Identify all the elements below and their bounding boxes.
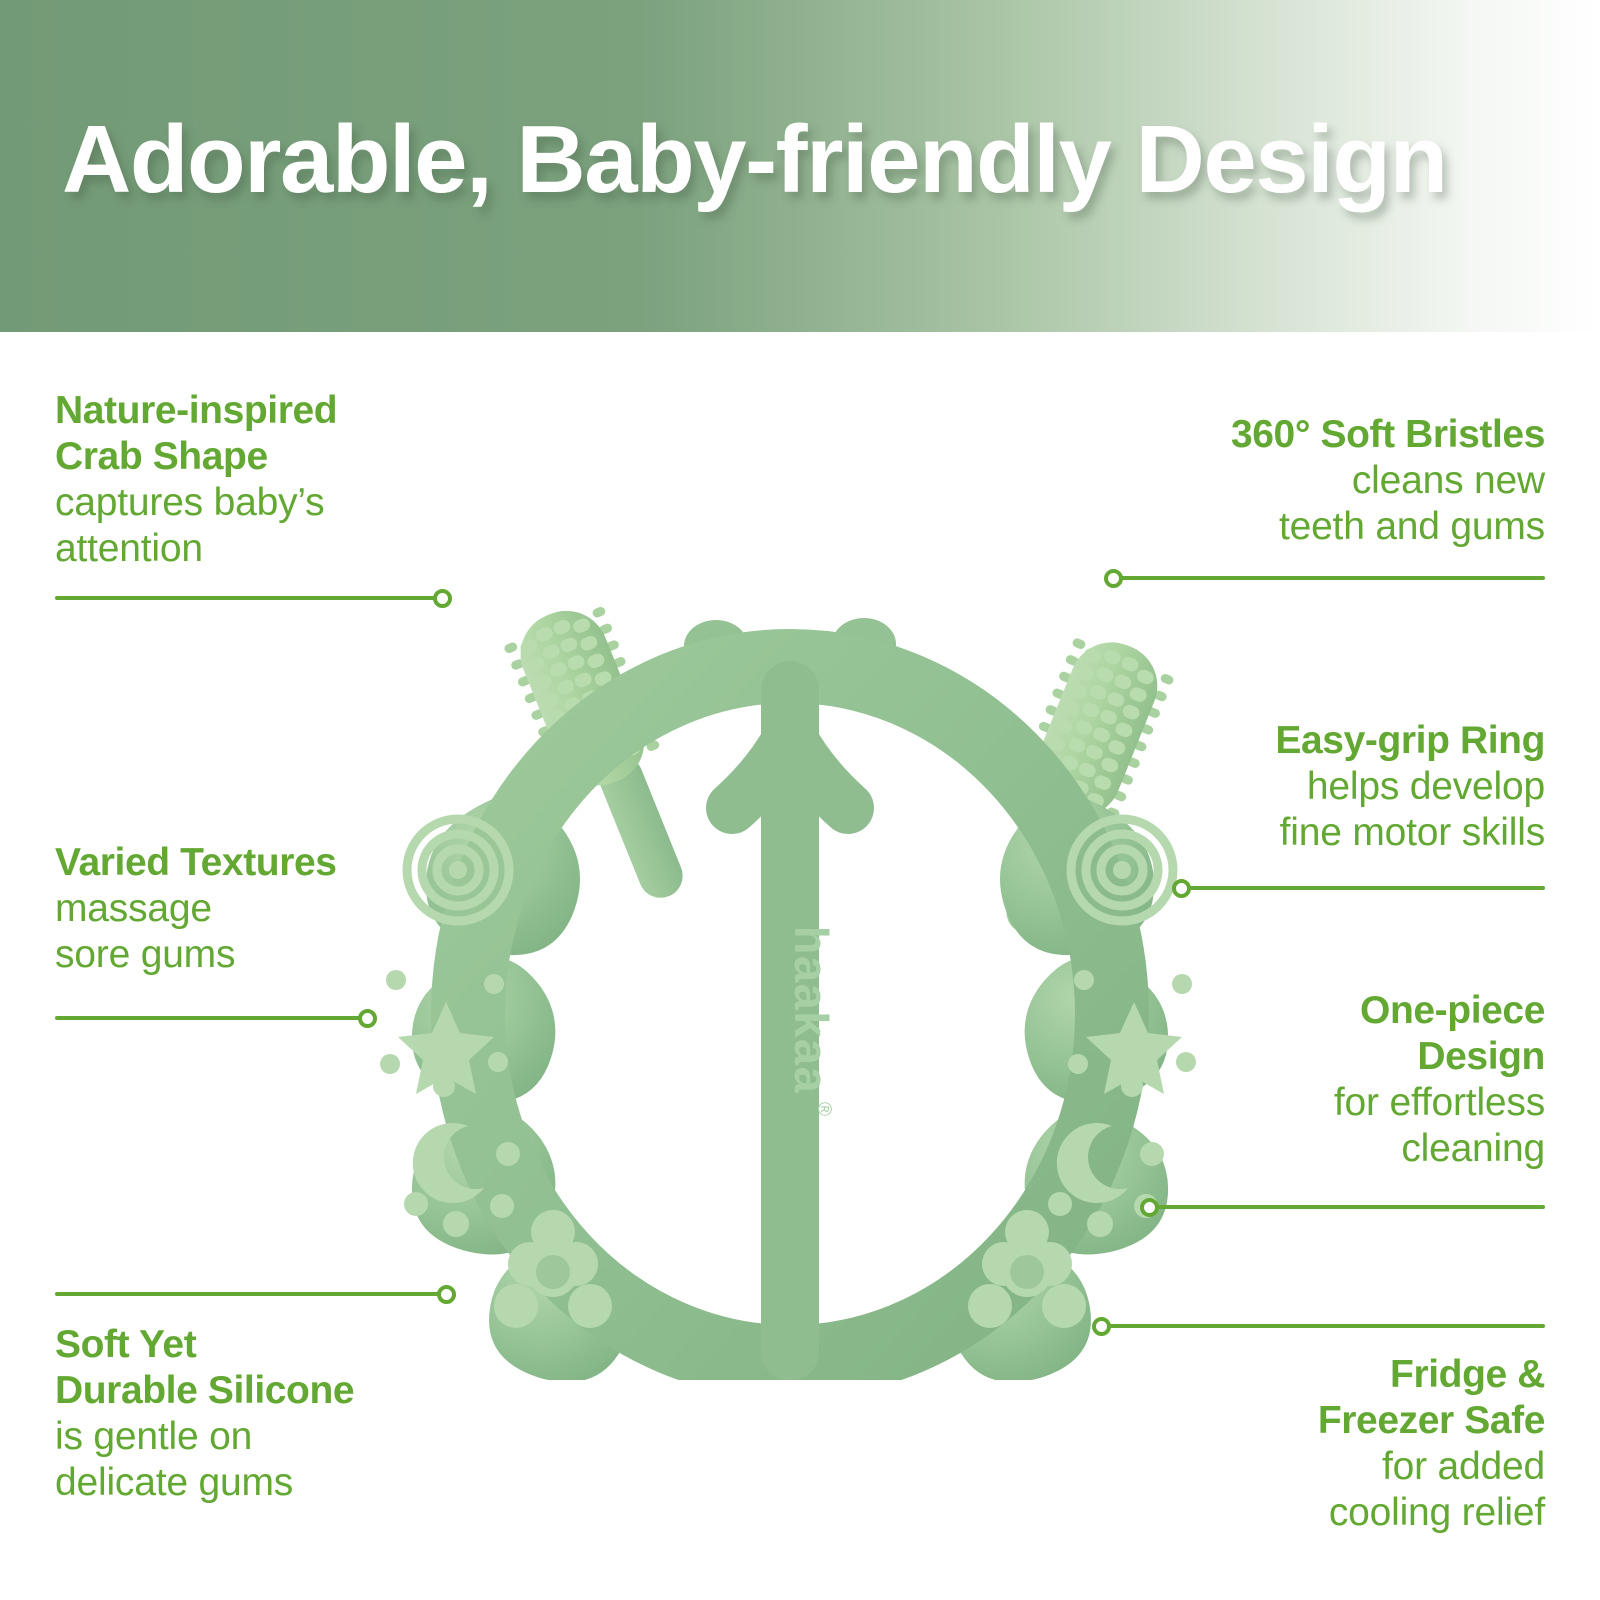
leader-knob-crab-shape [433,589,452,608]
brand-emboss-text: haakaa [785,926,838,1094]
callout-body-line-2: sore gums [55,932,475,978]
callout-heading-line-1: Easy-grip Ring [1065,718,1545,764]
callout-body-line-2: teeth and gums [1065,504,1545,550]
callout-heading-line-1: Nature-inspired [55,388,475,434]
page-title: Adorable, Baby-friendly Design [62,112,1447,208]
texture-flower-center-left [536,1255,570,1289]
callout-body-line-2: fine motor skills [1065,810,1545,856]
callout-body-line-2: cooling relief [1065,1490,1545,1536]
callout-body-line-1: is gentle on [55,1414,495,1460]
texture-ring-core-right [1113,861,1131,879]
leader-line-one-piece-design [1156,1205,1545,1209]
callout-body-line-1: cleans new [1065,458,1545,504]
callout-body-line-1: captures baby’s [55,480,475,526]
callout-nature-inspired-crab-shape: Nature-inspired Crab Shape captures baby… [55,388,475,572]
callout-body-line-1: for added [1065,1444,1545,1490]
leader-knob-fridge-freezer [1092,1317,1111,1336]
infographic-canvas: Adorable, Baby-friendly Design [0,0,1600,1600]
leader-line-fridge-freezer [1108,1324,1545,1328]
callout-varied-textures: Varied Textures massage sore gums [55,840,475,978]
leader-line-crab-shape [55,596,440,600]
leader-knob-one-piece-design [1140,1198,1159,1217]
callout-heading-line-1: One-piece [1065,988,1545,1034]
brand-emboss: haakaa ® [785,926,838,1116]
callout-heading-line-2: Durable Silicone [55,1368,495,1414]
callout-body-line-2: delicate gums [55,1460,495,1506]
callout-one-piece-design: One-piece Design for effortless cleaning [1065,988,1545,1172]
leader-line-durable-silicone [55,1292,444,1296]
callout-heading-line-2: Freezer Safe [1065,1398,1545,1444]
callout-heading-line-1: 360° Soft Bristles [1065,412,1545,458]
callout-heading-line-1: Soft Yet [55,1322,495,1368]
callout-heading-line-2: Crab Shape [55,434,475,480]
leader-line-easy-grip-ring [1188,886,1545,890]
leader-knob-varied-textures [358,1009,377,1028]
leader-line-varied-textures [55,1016,365,1020]
callout-heading-line-1: Varied Textures [55,840,475,886]
callout-fridge-freezer-safe: Fridge & Freezer Safe for added cooling … [1065,1352,1545,1536]
product-image-teether: haakaa ® [380,540,1220,1380]
header-banner: Adorable, Baby-friendly Design [0,0,1600,332]
callout-body-line-1: massage [55,886,475,932]
texture-flower-center-right [1010,1255,1044,1289]
leader-line-soft-bristles [1120,576,1545,580]
callout-body-line-1: for effortless [1065,1080,1545,1126]
callout-body-line-1: helps develop [1065,764,1545,810]
callout-heading-line-2: Design [1065,1034,1545,1080]
callout-body-line-2: cleaning [1065,1126,1545,1172]
callout-soft-yet-durable-silicone: Soft Yet Durable Silicone is gentle on d… [55,1322,495,1506]
callout-heading-line-1: Fridge & [1065,1352,1545,1398]
leader-knob-soft-bristles [1104,569,1123,588]
leader-knob-easy-grip-ring [1172,879,1191,898]
callout-body-line-2: attention [55,526,475,572]
brand-registered-mark: ® [813,1102,834,1116]
callout-easy-grip-ring: Easy-grip Ring helps develop fine motor … [1065,718,1545,856]
leader-knob-durable-silicone [437,1285,456,1304]
callout-360-soft-bristles: 360° Soft Bristles cleans new teeth and … [1065,412,1545,550]
